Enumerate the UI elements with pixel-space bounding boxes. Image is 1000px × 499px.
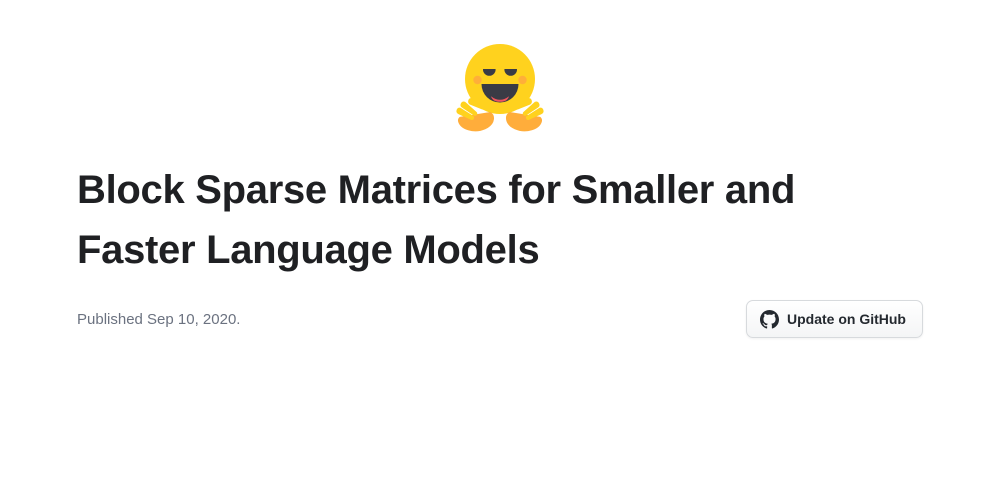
article-meta-row: Published Sep 10, 2020. Update on GitHub xyxy=(77,298,923,340)
update-on-github-button[interactable]: Update on GitHub xyxy=(746,300,923,338)
page-title: Block Sparse Matrices for Smaller and Fa… xyxy=(77,160,917,280)
site-logo[interactable] xyxy=(0,36,1000,136)
hugging-face-emoji xyxy=(450,36,550,136)
published-date: Published Sep 10, 2020. xyxy=(77,309,240,330)
blog-post-header: Block Sparse Matrices for Smaller and Fa… xyxy=(0,0,1000,499)
github-icon xyxy=(760,310,779,329)
update-on-github-label: Update on GitHub xyxy=(787,310,906,329)
